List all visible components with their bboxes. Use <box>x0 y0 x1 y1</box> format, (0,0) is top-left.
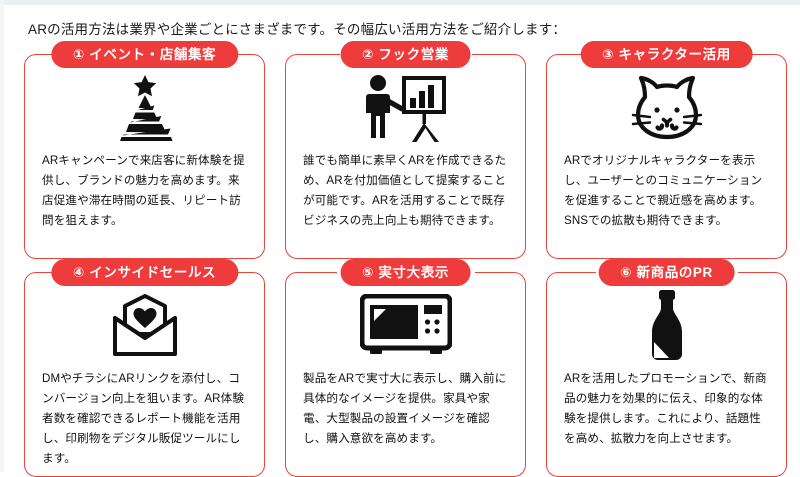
use-case-card[interactable]: ④ インサイドセールス DMやチラシにARリンクを添付し、コンバージョン向上を狙… <box>24 272 265 477</box>
card-description: ARを活用したプロモーションで、新商品の魅力を効果的に伝え、印象的な体験を提供し… <box>547 361 786 449</box>
card-description: ARキャンペーンで来店客に新体験を提供し、ブランドの魅力を高めます。来店促進や滞… <box>25 143 264 231</box>
card-icon <box>25 55 264 143</box>
card-title-badge: ⑥ 新商品のPR <box>598 259 735 286</box>
card-icon <box>25 273 264 361</box>
page-content: ARの活用方法は業界や企業ごとにさまざまです。その幅広い活用方法をご紹介します：… <box>4 5 800 472</box>
christmas-tree-icon <box>114 75 176 141</box>
presenter-chart-icon <box>364 74 448 142</box>
card-description: DMやチラシにARリンクを添付し、コンバージョン向上を狙います。AR体験者数を確… <box>25 361 264 469</box>
card-icon <box>547 55 786 143</box>
microwave-oven-icon <box>360 294 452 358</box>
card-title-badge: ④ インサイドセールス <box>51 259 238 286</box>
use-case-card[interactable]: ① イベント・店舗集客 ARキャンペーンで来店客に新体験を提供し、ブラン <box>24 54 265 259</box>
card-description: 誰でも簡単に素早くARを作成できるため、ARを付加価値として提案することが可能で… <box>286 143 525 231</box>
card-description: ARでオリジナルキャラクターを表示し、ユーザーとのコミュニケーションを促進するこ… <box>547 143 786 231</box>
use-case-card[interactable]: ③ キャラクター活用 <box>546 54 787 259</box>
use-case-card[interactable]: ② フック営業 <box>285 54 526 259</box>
cat-face-icon <box>629 75 705 141</box>
card-title-badge: ① イベント・店舗集客 <box>51 41 238 68</box>
intro-paragraph: ARの活用方法は業界や企業ごとにさまざまです。その幅広い活用方法をご紹介します： <box>28 21 800 40</box>
card-icon <box>286 55 525 143</box>
bottle-icon <box>645 290 689 362</box>
card-title-badge: ③ キャラクター活用 <box>580 41 753 68</box>
card-title-badge: ② フック営業 <box>340 41 471 68</box>
use-case-card-grid: ① イベント・店舗集客 ARキャンペーンで来店客に新体験を提供し、ブラン <box>24 54 800 477</box>
card-description: 製品をARで実寸大に表示し、購入前に具体的なイメージを提供。家具や家電、大型製品… <box>286 361 525 449</box>
envelope-heart-icon <box>107 294 183 358</box>
card-icon <box>547 273 786 361</box>
card-title-badge: ⑤ 実寸大表示 <box>340 259 471 286</box>
card-icon <box>286 273 525 361</box>
use-case-card[interactable]: ⑥ 新商品のPR ARを活用したプロモーションで、新商品の魅力を効果的に <box>546 272 787 477</box>
use-case-card[interactable]: ⑤ 実寸大表示 <box>285 272 526 477</box>
